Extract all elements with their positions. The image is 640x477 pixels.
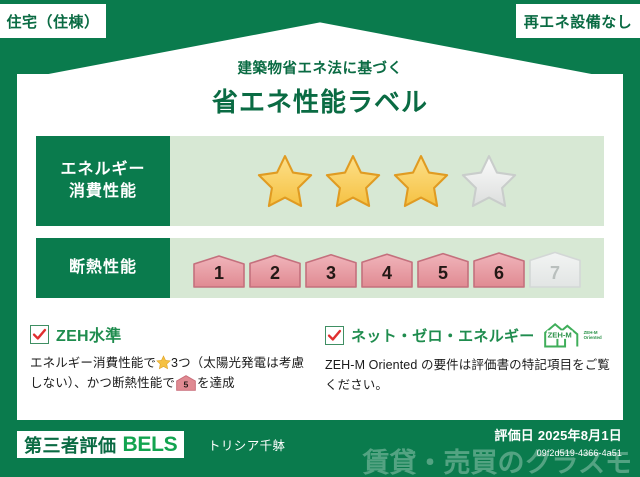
energy-consumption-stars — [170, 136, 604, 226]
energy-consumption-key: エネルギー 消費性能 — [36, 136, 170, 226]
zeh-m-logo-icon: ZEH-M ZEH-M Oriented — [542, 322, 602, 348]
inline-house-level-icon: 5 — [176, 375, 196, 391]
renewable-equipment-tag: 再エネ設備なし — [516, 4, 640, 38]
zeh-note-text-part1: エネルギー消費性能で — [30, 356, 156, 370]
insulation-level-chip-filled: 2 — [248, 247, 302, 289]
net-zero-energy-note-body: ZEH-M Oriented の要件は評価書の特記項目をご覧ください。 — [325, 355, 613, 396]
net-zero-energy-note-title: ネット・ゼロ・エネルギー — [351, 325, 535, 346]
bels-badge: 第三者評価 BELS — [17, 431, 184, 458]
zeh-m-logo-sub2: Oriented — [584, 335, 602, 340]
insulation-performance-row: 断熱性能 1234567 — [36, 238, 604, 298]
insulation-level-chip-filled: 6 — [472, 247, 526, 289]
checkmark-icon — [325, 326, 344, 345]
insulation-level-number: 4 — [382, 263, 392, 284]
insulation-performance-values: 1234567 — [170, 238, 604, 298]
evaluation-id: 09f2d519-4366-4a51 — [537, 448, 622, 458]
label-footer: 第三者評価 BELS トリシア千躰 評価日 2025年8月1日 09f2d519… — [0, 420, 640, 477]
insulation-level-chip-filled: 3 — [304, 247, 358, 289]
bels-badge-jp-label: 第三者評価 — [24, 432, 117, 458]
page-title: 建築物省エネ法に基づく 省エネ性能ラベル — [0, 57, 640, 119]
star-empty-icon — [460, 153, 518, 209]
insulation-level-number: 5 — [438, 263, 448, 284]
building-name: トリシア千躰 — [208, 435, 285, 454]
energy-performance-label: 住宅（住棟） 再エネ設備なし 建築物省エネ法に基づく 省エネ性能ラベル エネルギ… — [0, 0, 640, 477]
insulation-level-number: 7 — [550, 263, 560, 284]
insulation-performance-key-line1: 断熱性能 — [69, 257, 137, 279]
title-main: 省エネ性能ラベル — [0, 82, 640, 119]
svg-text:5: 5 — [184, 380, 189, 390]
zeh-note-text-part3: を達成 — [197, 376, 235, 390]
zeh-standard-note-body: エネルギー消費性能で 3つ（太陽光発電は考慮しない）、かつ断熱性能で 5 を達成 — [30, 353, 315, 394]
insulation-level-chip-filled: 1 — [192, 247, 246, 289]
svg-text:ZEH-M: ZEH-M — [547, 330, 571, 339]
building-type-tag: 住宅（住棟） — [0, 4, 106, 38]
star-filled-icon — [392, 153, 450, 209]
checkmark-icon — [30, 325, 49, 344]
energy-consumption-key-line1: エネルギー — [60, 159, 145, 181]
zeh-standard-note-header: ZEH水準 — [30, 322, 315, 346]
insulation-level-chips: 1234567 — [192, 247, 582, 289]
insulation-level-number: 6 — [494, 263, 504, 284]
bels-badge-en-label: BELS — [123, 433, 178, 457]
net-zero-energy-note: ネット・ゼロ・エネルギー ZEH-M ZEH-M Oriented ZEH-M … — [325, 322, 613, 396]
insulation-level-chip-empty: 7 — [528, 247, 582, 289]
inline-star-icon — [156, 355, 171, 370]
insulation-level-number: 1 — [214, 263, 224, 284]
insulation-level-number: 2 — [270, 263, 280, 284]
insulation-level-chip-filled: 5 — [416, 247, 470, 289]
star-filled-icon — [324, 153, 382, 209]
zeh-standard-note: ZEH水準 エネルギー消費性能で 3つ（太陽光発電は考慮しない）、かつ断熱性能で… — [30, 322, 315, 394]
insulation-level-chip-filled: 4 — [360, 247, 414, 289]
insulation-performance-key: 断熱性能 — [36, 238, 170, 298]
net-zero-energy-note-header: ネット・ゼロ・エネルギー ZEH-M ZEH-M Oriented — [325, 322, 613, 348]
renewable-equipment-tag-label: 再エネ設備なし — [524, 11, 633, 32]
star-filled-icon — [256, 153, 314, 209]
building-type-tag-label: 住宅（住棟） — [6, 11, 99, 32]
title-subtitle: 建築物省エネ法に基づく — [0, 57, 640, 78]
evaluation-date: 評価日 2025年8月1日 — [494, 425, 622, 444]
insulation-level-number: 3 — [326, 263, 336, 284]
zeh-standard-note-title: ZEH水準 — [56, 322, 122, 346]
energy-consumption-row: エネルギー 消費性能 — [36, 136, 604, 226]
watermark-text: 賃貸・売買のクラスモ — [363, 441, 632, 477]
zeh-m-logo-subtext: ZEH-M Oriented — [584, 330, 602, 340]
energy-consumption-key-line2: 消費性能 — [69, 181, 137, 203]
